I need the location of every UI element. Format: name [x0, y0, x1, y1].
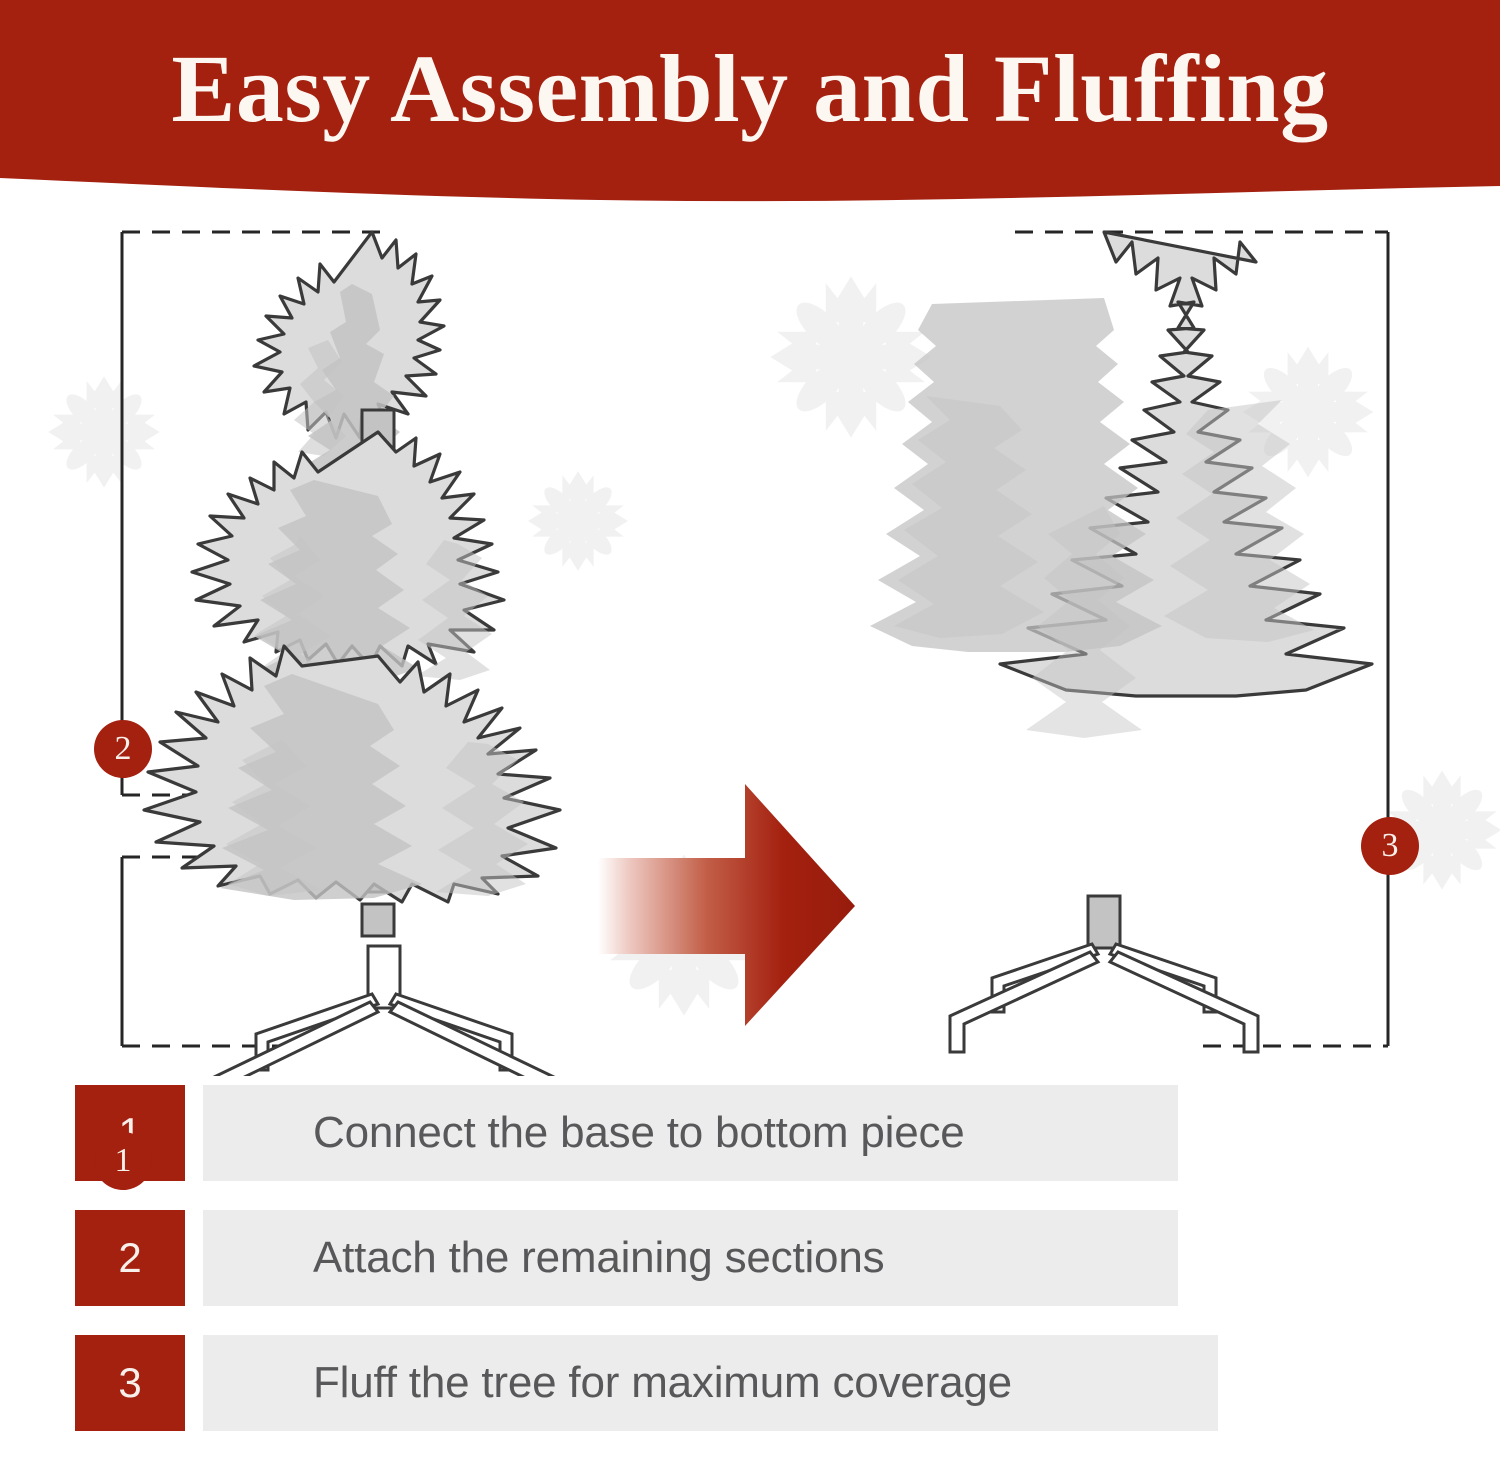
- legend-number-badge: 3: [75, 1335, 185, 1431]
- step-marker-2: 2: [94, 720, 152, 778]
- step-marker-1-label: 1: [115, 1144, 132, 1178]
- stand-leg: [390, 1002, 556, 1076]
- tree-stand-left: [212, 946, 556, 1076]
- header-banner: Easy Assembly and Fluffing: [0, 0, 1500, 206]
- step-marker-1: 1: [94, 1132, 152, 1190]
- page-title: Easy Assembly and Fluffing: [0, 34, 1500, 144]
- legend-step-text: Fluff the tree for maximum coverage: [313, 1361, 1012, 1405]
- tree-stand-right: [950, 896, 1258, 1052]
- illustration-stage: 2 1 3: [0, 206, 1500, 1076]
- steps-legend: 1 Connect the base to bottom piece 2 Att…: [0, 1085, 1500, 1460]
- assembly-illustration: [0, 206, 1500, 1076]
- assembled-tree: [870, 232, 1372, 1052]
- step-marker-3-label: 3: [1382, 829, 1399, 863]
- legend-row: 1 Connect the base to bottom piece: [0, 1085, 1500, 1181]
- legend-row: 3 Fluff the tree for maximum coverage: [0, 1335, 1500, 1431]
- legend-number-label: 3: [118, 1362, 141, 1404]
- step-marker-2-label: 2: [115, 732, 132, 766]
- legend-text-bar: Attach the remaining sections: [203, 1210, 1178, 1306]
- tree-bottom-section: [144, 646, 560, 936]
- legend-step-text: Connect the base to bottom piece: [313, 1111, 965, 1155]
- stand-post: [1088, 896, 1120, 948]
- snowflake-icon: [770, 276, 931, 437]
- disassembled-tree-sections: [144, 232, 560, 1076]
- legend-text-bar: Connect the base to bottom piece: [203, 1085, 1178, 1181]
- legend-row: 2 Attach the remaining sections: [0, 1210, 1500, 1306]
- connector-tab: [362, 904, 394, 936]
- legend-step-text: Attach the remaining sections: [313, 1236, 884, 1280]
- snowflake-icon: [48, 376, 159, 487]
- step-marker-3: 3: [1361, 817, 1419, 875]
- legend-number-label: 2: [118, 1237, 141, 1279]
- snowflake-icon: [528, 471, 628, 571]
- stand-leg: [212, 1002, 378, 1076]
- legend-text-bar: Fluff the tree for maximum coverage: [203, 1335, 1218, 1431]
- right-arrow: [598, 784, 855, 1026]
- page-root: Easy Assembly and Fluffing: [0, 0, 1500, 1470]
- legend-number-badge: 2: [75, 1210, 185, 1306]
